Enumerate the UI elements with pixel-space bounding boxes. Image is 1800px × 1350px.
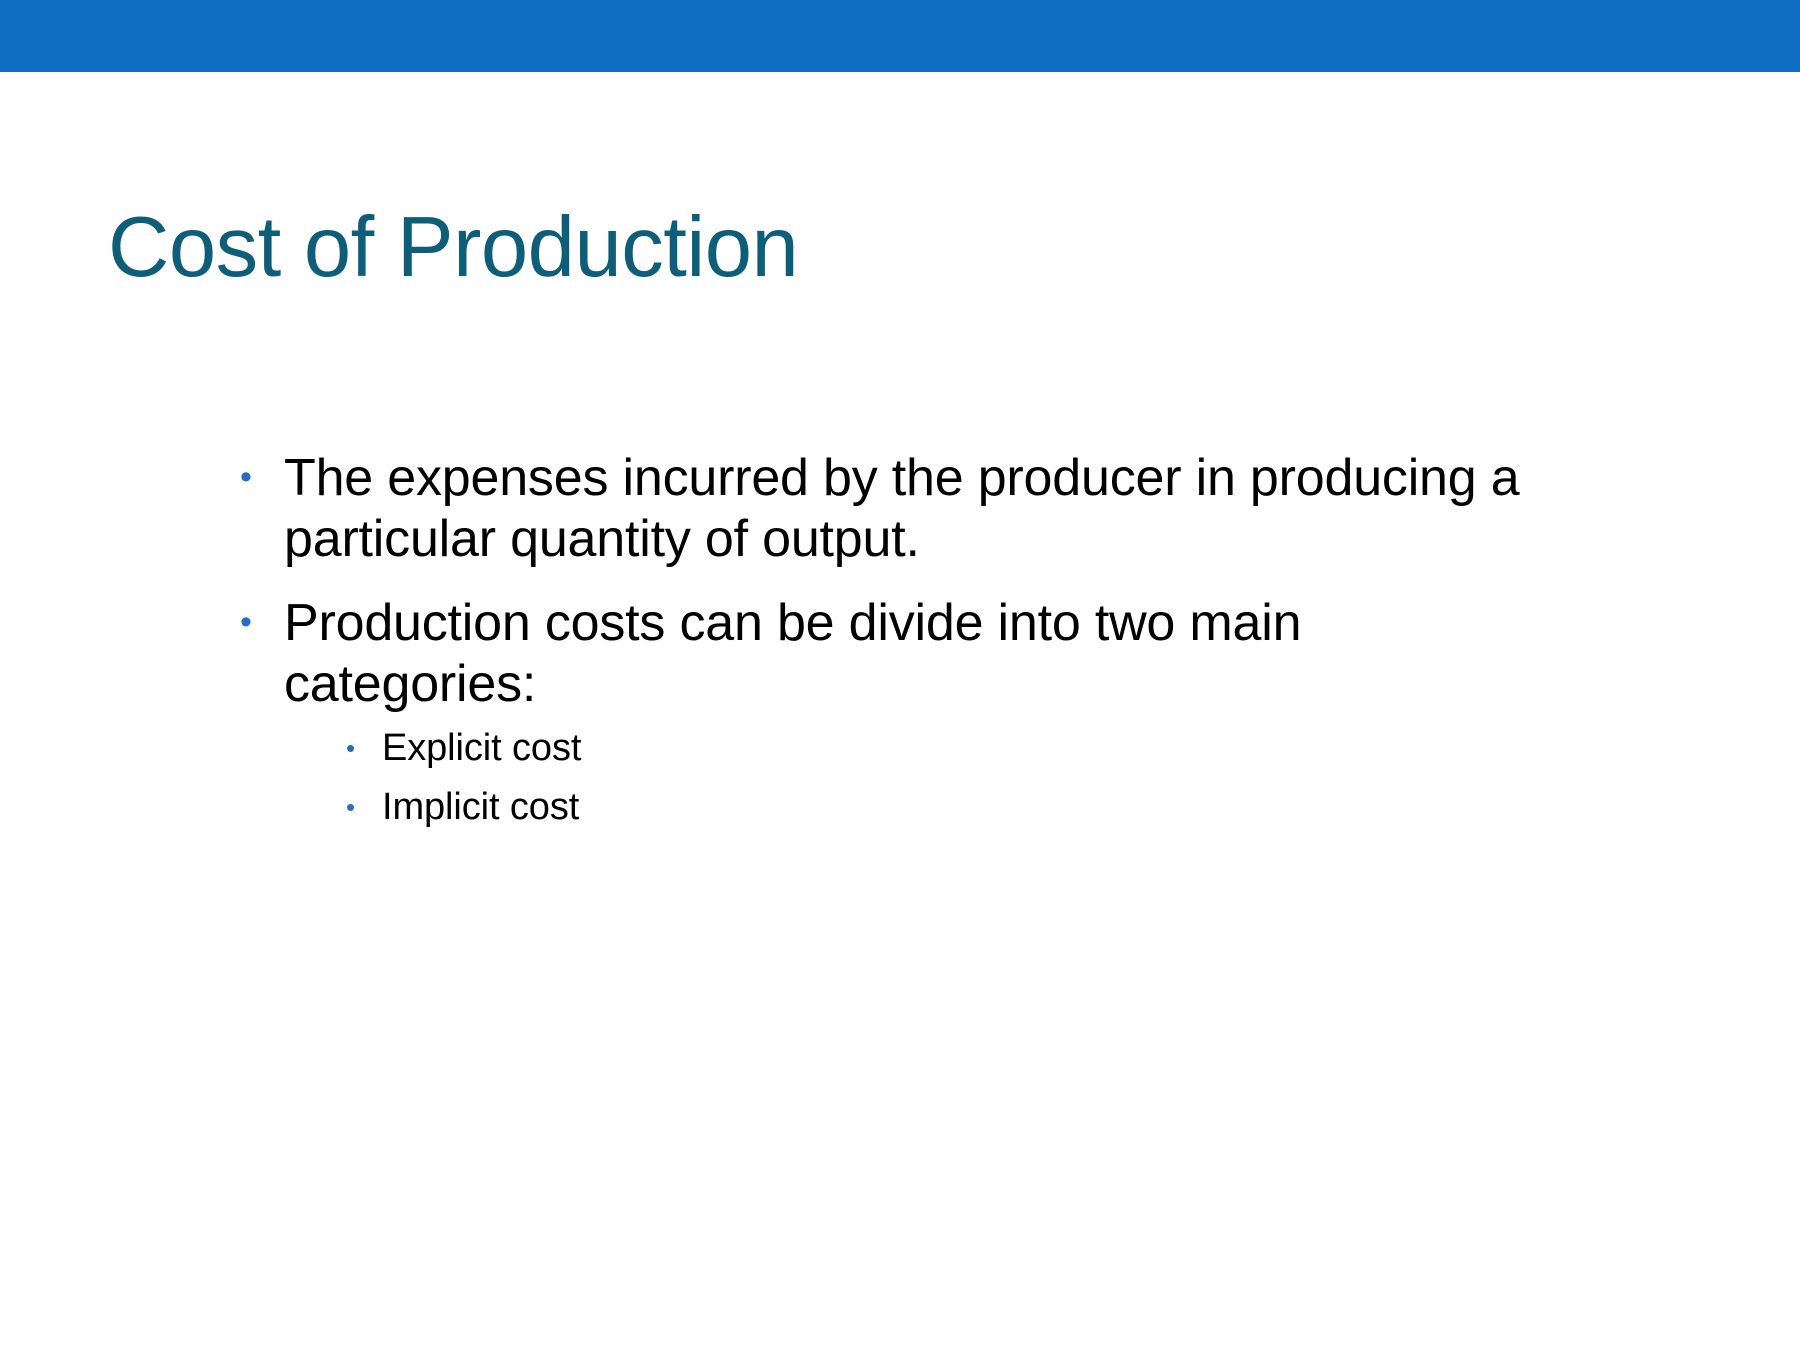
- bullet-dot-icon: •: [240, 448, 266, 506]
- list-item: • Production costs can be divide into tw…: [232, 593, 1552, 830]
- top-accent-bar: [0, 0, 1800, 72]
- list-item-label: The expenses incurred by the producer in…: [284, 448, 1552, 571]
- bullet-list-level1: • The expenses incurred by the producer …: [232, 448, 1552, 830]
- bullet-dot-icon: •: [346, 725, 368, 771]
- list-item-label: Implicit cost: [382, 784, 1552, 830]
- bullet-dot-icon: •: [240, 593, 266, 651]
- presentation-slide: Cost of Production • The expenses incurr…: [0, 0, 1800, 1350]
- list-item: • Implicit cost: [342, 784, 1552, 830]
- list-item-label: Production costs can be divide into two …: [284, 593, 1552, 716]
- list-item: • The expenses incurred by the producer …: [232, 448, 1552, 571]
- title-placeholder: Cost of Production: [108, 205, 1668, 292]
- list-item-label: Explicit cost: [382, 725, 1552, 771]
- bullet-list-level2: • Explicit cost • Implicit cost: [284, 725, 1552, 830]
- bullet-dot-icon: •: [346, 784, 368, 830]
- page-title: Cost of Production: [108, 205, 1668, 292]
- list-item: • Explicit cost: [342, 725, 1552, 771]
- content-placeholder: • The expenses incurred by the producer …: [232, 448, 1552, 830]
